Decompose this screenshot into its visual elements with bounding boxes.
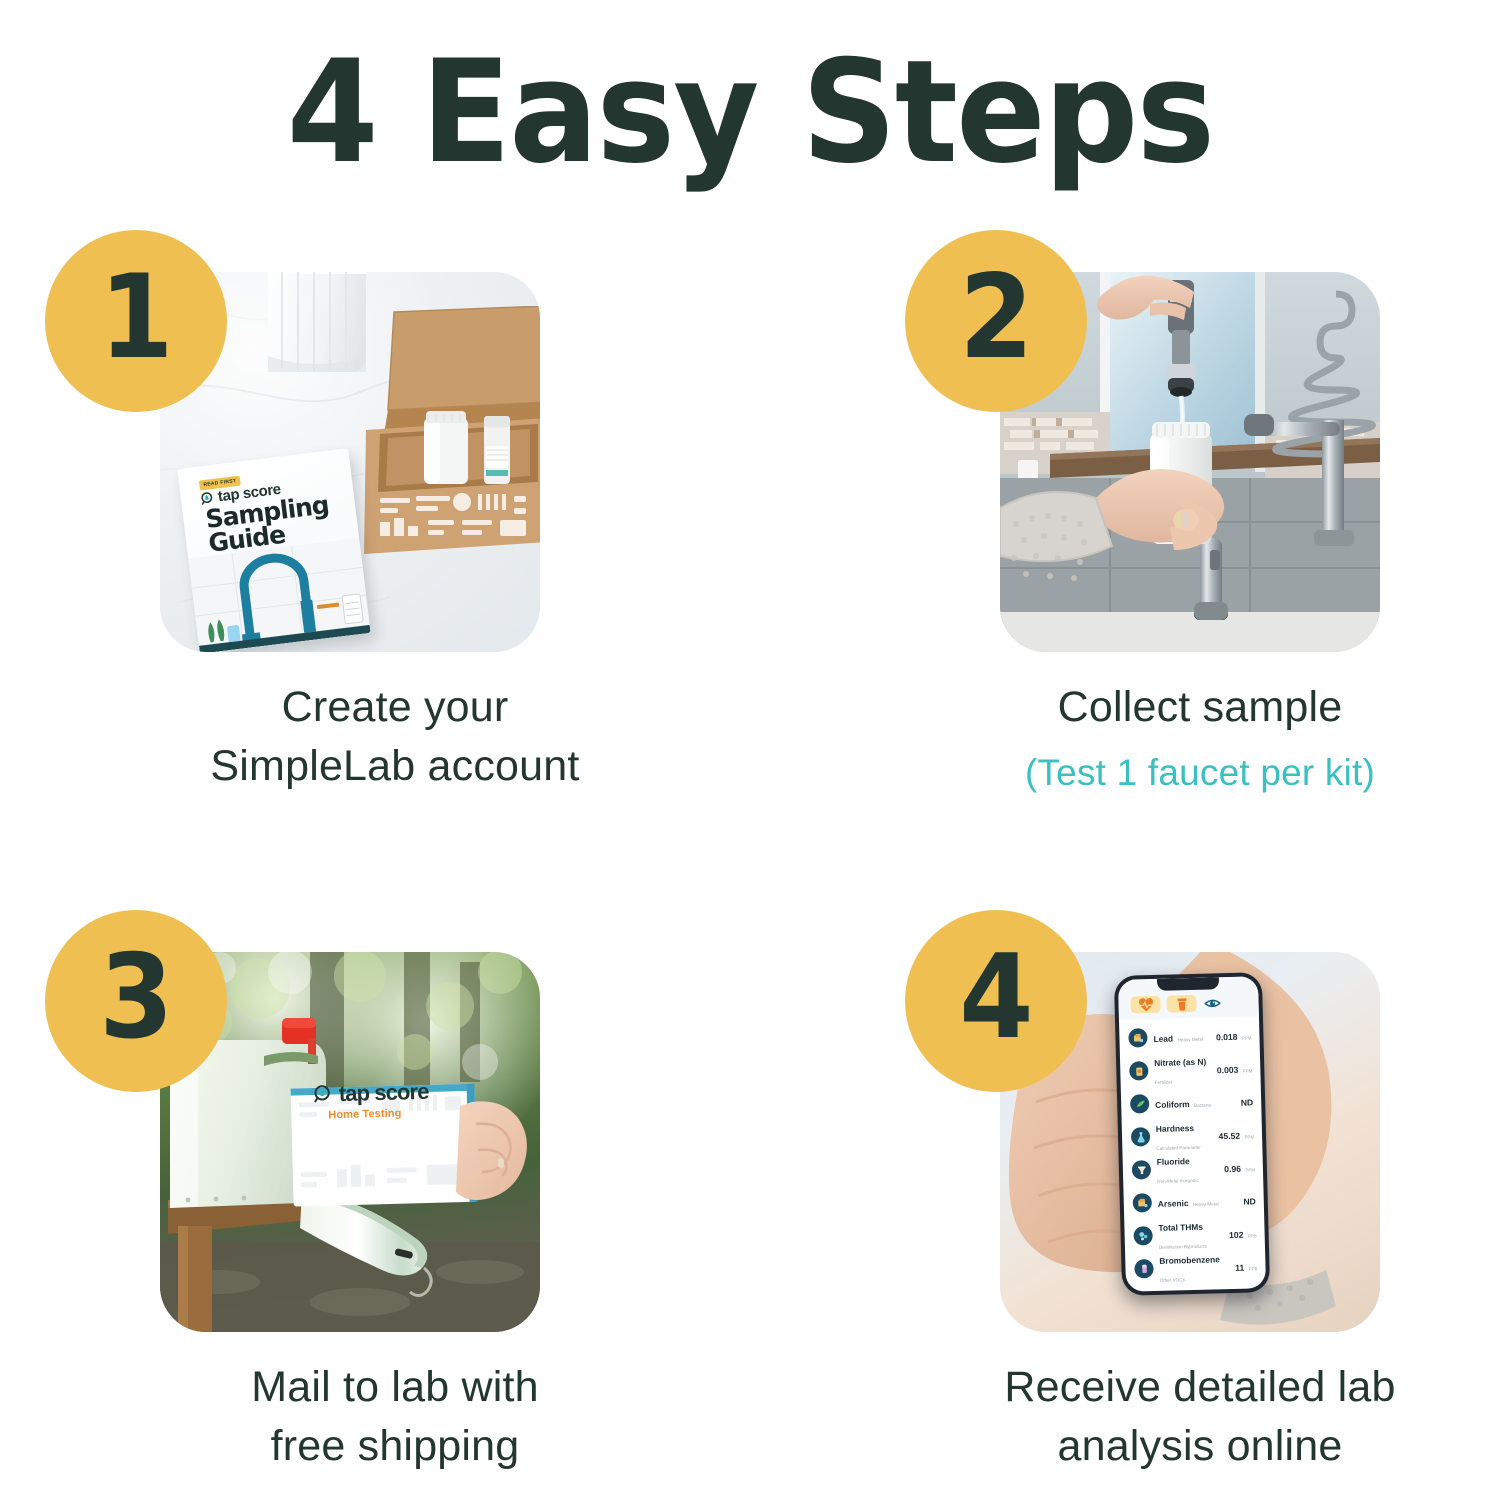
result-name: Bromobenzene — [1159, 1254, 1220, 1266]
step-number-badge-4: 4 — [905, 910, 1087, 1092]
result-name: Fluoride — [1157, 1156, 1190, 1167]
result-unit: PPB — [1249, 1266, 1258, 1271]
result-value: ND — [1243, 1196, 1256, 1206]
step-3-caption: Mail to lab with free shipping — [40, 1358, 750, 1477]
step-1-caption: Create your SimpleLab account — [40, 678, 750, 797]
step-number-2: 2 — [959, 260, 1033, 376]
result-unit: PPM — [1242, 1035, 1252, 1040]
step-2: 2 Collect sample (Test 1 faucet per kit) — [900, 230, 1500, 850]
step-2-subcaption: (Test 1 faucet per kit) — [900, 747, 1500, 798]
step-2-caption: Collect sample (Test 1 faucet per kit) — [900, 678, 1500, 798]
sample-cup-icon — [1176, 997, 1187, 1011]
infographic-page: 4 Easy Steps — [0, 0, 1500, 1500]
phone-screen: Lead Heavy Metal 0.018 PPM — [1118, 976, 1266, 1292]
bacteria-icon — [1130, 1094, 1149, 1113]
funnel-icon — [1132, 1160, 1151, 1179]
step-number-3: 3 — [99, 940, 173, 1056]
result-row[interactable]: Lead Heavy Metal 0.018 PPM — [1119, 1018, 1260, 1055]
sample-filter-button[interactable] — [1166, 995, 1196, 1013]
step-3: tap score Home Testing 3 Mail to lab wit… — [40, 910, 750, 1500]
result-value: 0.018 — [1216, 1031, 1238, 1042]
kit-box — [358, 306, 540, 558]
result-value: 0.96 — [1224, 1163, 1241, 1173]
result-row[interactable]: Fluoride Non-Metal Inorganic 0.96 PPM — [1122, 1150, 1263, 1187]
result-category: Heavy Metal — [1177, 1036, 1203, 1042]
phone-notch — [1157, 977, 1219, 991]
result-unit: PPM — [1245, 1167, 1255, 1172]
arsenic-icon — [1133, 1193, 1152, 1212]
result-row[interactable]: Nitrate (as N) Fertilizer 0.003 PPM — [1120, 1051, 1261, 1088]
step-number-1: 1 — [99, 260, 173, 376]
step-4: Lead Heavy Metal 0.018 PPM — [900, 910, 1500, 1500]
result-category: Bacteria — [1194, 1102, 1211, 1107]
result-category: Non-Metal Inorganic — [1157, 1177, 1198, 1183]
result-value: 11 — [1235, 1262, 1244, 1272]
step-4-caption-line2: analysis online — [900, 1417, 1500, 1476]
vial-icon — [1134, 1259, 1153, 1278]
result-value: ND — [1241, 1097, 1254, 1107]
result-name: Hardness — [1156, 1122, 1194, 1133]
result-row[interactable]: Arsenic Heavy Metal ND — [1123, 1183, 1264, 1220]
result-value: 45.52 — [1218, 1130, 1240, 1141]
result-category: Other VOCs — [1160, 1277, 1185, 1283]
step-number-badge-1: 1 — [45, 230, 227, 412]
view-toggle-button[interactable] — [1202, 994, 1222, 1012]
step-1-caption-line2: SimpleLab account — [40, 737, 750, 796]
result-unit: PPB — [1248, 1233, 1257, 1238]
step-1-caption-line1: Create your — [40, 678, 750, 737]
steps-grid: READ FIRST tap score Sampling Guide — [0, 0, 1500, 1500]
result-value: 102 — [1229, 1229, 1244, 1239]
result-category: Heavy Metal — [1193, 1201, 1219, 1207]
health-filter-button[interactable] — [1130, 996, 1160, 1014]
step-3-caption-line1: Mail to lab with — [40, 1358, 750, 1417]
result-row[interactable]: Hardness Calculated Parameter 45.52 PPM — [1122, 1117, 1263, 1154]
step-1: READ FIRST tap score Sampling Guide — [40, 230, 750, 850]
booklet-faucet-illustration — [188, 538, 370, 652]
result-row[interactable]: Bromobenzene Other VOCs 11 PPB — [1125, 1249, 1266, 1286]
step-number-badge-3: 3 — [45, 910, 227, 1092]
result-name: Nitrate (as N) — [1154, 1056, 1206, 1067]
sampling-guide-booklet: READ FIRST tap score Sampling Guide — [177, 448, 370, 652]
step-number-4: 4 — [959, 940, 1033, 1056]
step-2-caption-line1: Collect sample — [900, 678, 1500, 737]
result-category: Fertilizer — [1155, 1079, 1173, 1084]
result-unit: PPM — [1243, 1068, 1253, 1073]
step-4-caption: Receive detailed lab analysis online — [900, 1358, 1500, 1477]
fertilizer-icon — [1129, 1061, 1148, 1080]
result-row[interactable]: Coliform Bacteria ND — [1121, 1084, 1262, 1121]
result-row[interactable]: Total THMs Disinfection Byproducts 102 P… — [1124, 1216, 1265, 1253]
step-4-caption-line1: Receive detailed lab — [900, 1358, 1500, 1417]
flask-icon — [1131, 1127, 1150, 1146]
step-number-badge-2: 2 — [905, 230, 1087, 412]
smartphone: Lead Heavy Metal 0.018 PPM — [1114, 972, 1270, 1296]
eye-icon — [1204, 997, 1220, 1009]
lead-icon — [1128, 1028, 1147, 1047]
pot-ribs — [268, 272, 366, 372]
result-name: Arsenic — [1158, 1198, 1189, 1209]
step-3-caption-line2: free shipping — [40, 1417, 750, 1476]
heart-pulse-icon — [1138, 997, 1153, 1011]
result-name: Total THMs — [1158, 1221, 1203, 1232]
result-unit: PPM — [1245, 1134, 1255, 1139]
plant-pot — [268, 272, 366, 372]
molecule-icon — [1133, 1226, 1152, 1245]
result-name: Coliform — [1155, 1099, 1190, 1110]
results-list[interactable]: Lead Heavy Metal 0.018 PPM — [1119, 1016, 1266, 1286]
result-name: Lead — [1153, 1033, 1173, 1044]
result-value: 0.003 — [1217, 1064, 1239, 1075]
